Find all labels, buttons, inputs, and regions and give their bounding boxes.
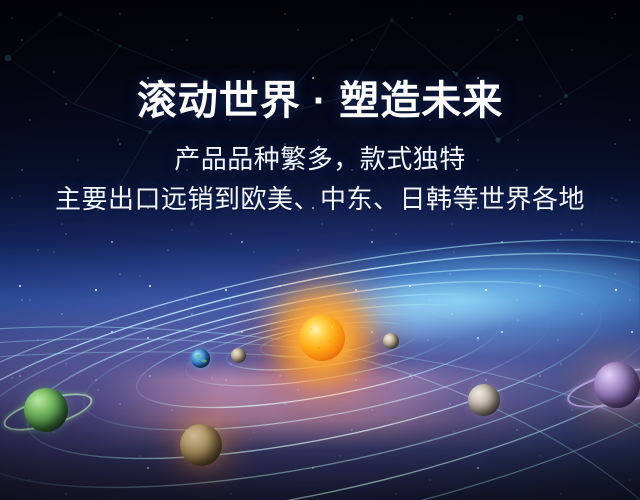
banner-subline-1: 产品品种繁多，款式独特	[0, 124, 640, 178]
purple-ringed-planet	[594, 362, 640, 408]
grey-small-planet	[231, 348, 246, 363]
earth-landmass	[191, 349, 210, 368]
tan-planet	[180, 424, 222, 466]
moon-right-of-sun	[383, 333, 399, 349]
green-ringed-planet	[24, 388, 68, 432]
banner-text-block: 滚动世界 · 塑造未来 产品品种繁多，款式独特 主要出口远销到欧美、中东、日韩等…	[0, 0, 640, 218]
space-banner: 滚动世界 · 塑造未来 产品品种繁多，款式独特 主要出口远销到欧美、中东、日韩等…	[0, 0, 640, 500]
grey-planet	[468, 384, 500, 416]
banner-subline-2: 主要出口远销到欧美、中东、日韩等世界各地	[0, 178, 640, 218]
sun-surface-texture	[299, 315, 345, 361]
banner-headline: 滚动世界 · 塑造未来	[0, 0, 640, 124]
